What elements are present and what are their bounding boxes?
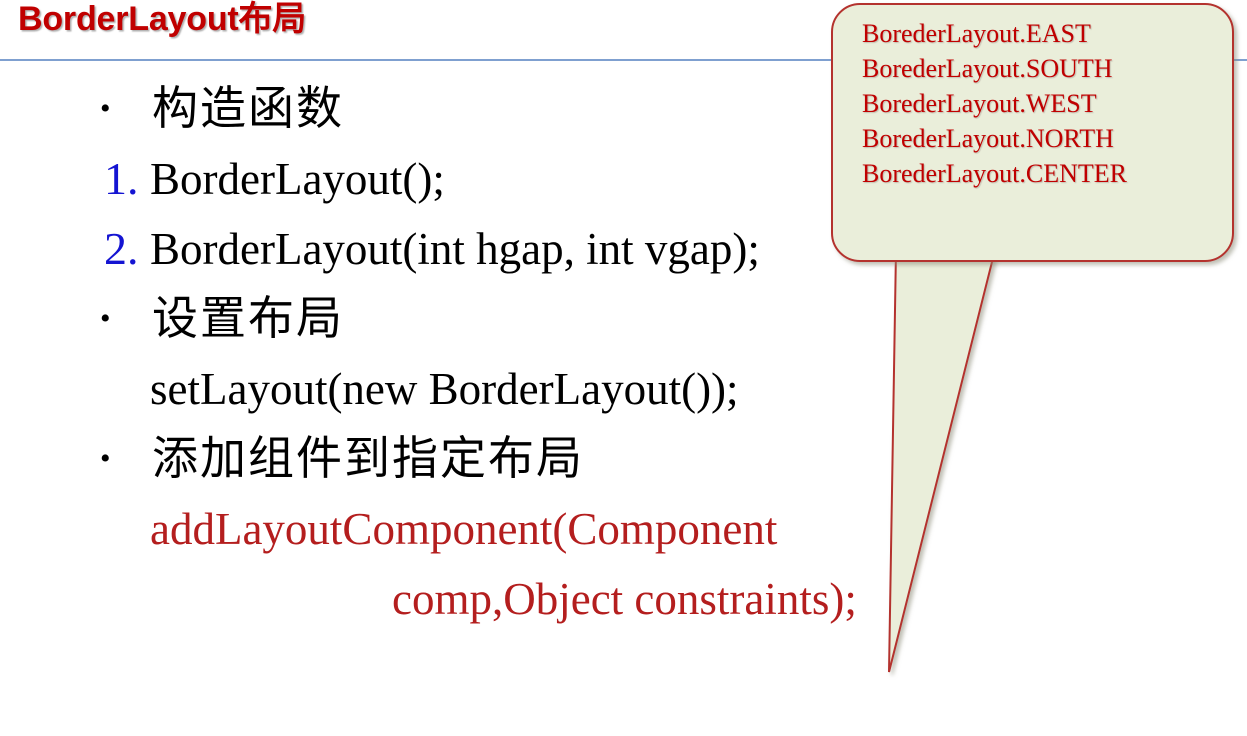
code-line: setLayout(new BorderLayout()); bbox=[0, 354, 900, 424]
code-line: comp,Object constraints); bbox=[0, 564, 900, 634]
list-item: • 设置布局 bbox=[0, 284, 900, 354]
number-marker: 2. bbox=[104, 214, 152, 284]
list-item-label: 构造函数 bbox=[152, 74, 344, 144]
bullet-marker: • bbox=[100, 74, 148, 144]
list-item-label: 设置布局 bbox=[152, 284, 344, 354]
bullet-marker: • bbox=[100, 424, 148, 494]
callout-text-block: BorederLayout.EAST BorederLayout.SOUTH B… bbox=[862, 16, 1242, 191]
callout-line: BorederLayout.SOUTH bbox=[862, 51, 1242, 86]
code-text: setLayout(new BorderLayout()); bbox=[150, 354, 739, 424]
list-item-label: BorderLayout(int hgap, int vgap); bbox=[150, 214, 760, 284]
callout-line: BorederLayout.NORTH bbox=[862, 121, 1242, 156]
list-item: • 构造函数 bbox=[0, 74, 900, 144]
callout-line: BorederLayout.WEST bbox=[862, 86, 1242, 121]
list-item: 1. BorderLayout(); bbox=[0, 144, 900, 214]
callout-line: BorederLayout.EAST bbox=[862, 16, 1242, 51]
list-item-label: 添加组件到指定布局 bbox=[152, 424, 584, 494]
code-text: addLayoutComponent(Component bbox=[150, 494, 777, 564]
list-item: • 添加组件到指定布局 bbox=[0, 424, 900, 494]
list-item-label: BorderLayout(); bbox=[150, 144, 445, 214]
code-text: comp,Object constraints); bbox=[392, 564, 857, 634]
slide-body: • 构造函数 1. BorderLayout(); 2. BorderLayou… bbox=[0, 74, 900, 634]
bullet-marker: • bbox=[100, 284, 148, 354]
page-title: BorderLayout布局 bbox=[18, 0, 306, 42]
code-line: addLayoutComponent(Component bbox=[0, 494, 900, 564]
callout-line: BorederLayout.CENTER bbox=[862, 156, 1242, 191]
list-item: 2. BorderLayout(int hgap, int vgap); bbox=[0, 214, 900, 284]
number-marker: 1. bbox=[104, 144, 152, 214]
callout-tail bbox=[889, 250, 995, 672]
